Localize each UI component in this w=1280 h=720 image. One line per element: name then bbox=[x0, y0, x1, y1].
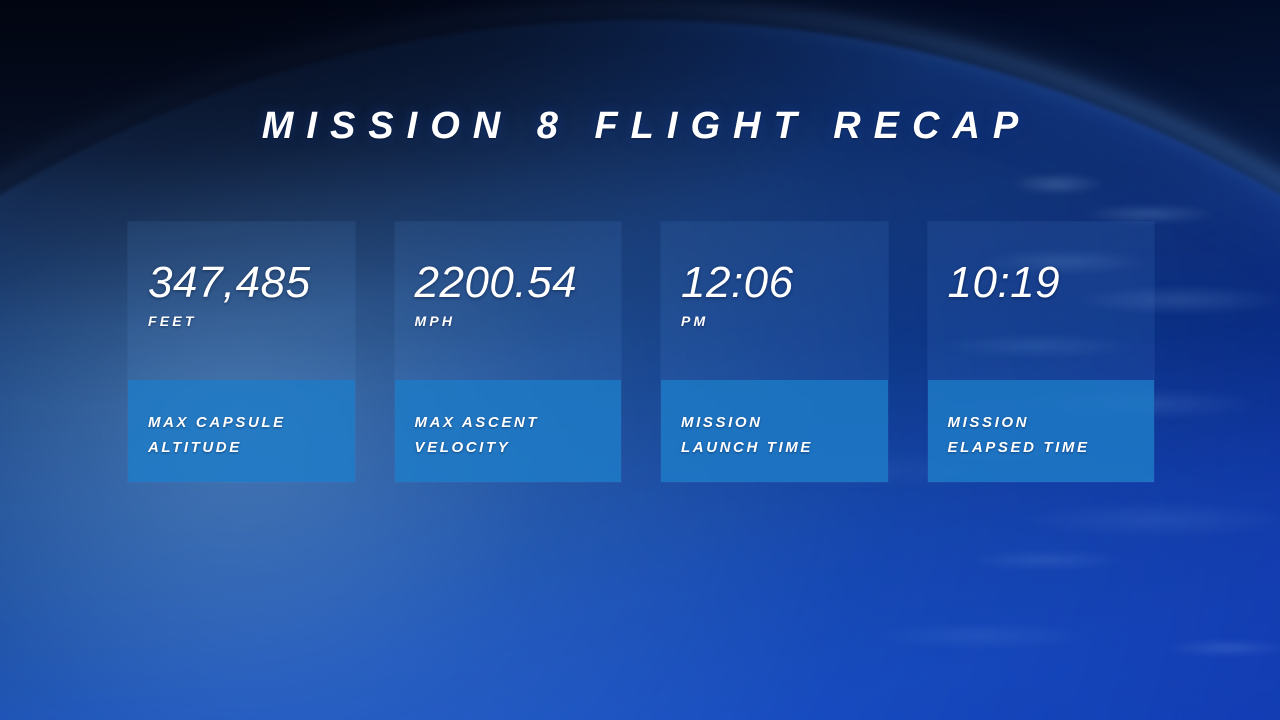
stat-value: 347,485 bbox=[148, 260, 355, 306]
stat-card-value-panel: 12:06 PM bbox=[661, 222, 888, 380]
stat-unit: PM bbox=[681, 313, 888, 329]
stat-card-label-panel: MAX ASCENT VELOCITY bbox=[395, 380, 622, 482]
stat-label-line: MISSION bbox=[948, 410, 1137, 435]
stat-value: 12:06 bbox=[681, 260, 888, 306]
stat-card-max-ascent-velocity: 2200.54 MPH MAX ASCENT VELOCITY bbox=[395, 222, 622, 482]
stat-label: MAX CAPSULE ALTITUDE bbox=[148, 410, 337, 460]
stat-card-value-panel: 347,485 FEET bbox=[128, 222, 355, 380]
flight-recap-graphic: MISSION 8 FLIGHT RECAP 347,485 FEET MAX … bbox=[0, 0, 1280, 720]
stat-card-label-panel: MISSION ELAPSED TIME bbox=[928, 380, 1155, 482]
stat-card-label-panel: MAX CAPSULE ALTITUDE bbox=[128, 380, 355, 482]
stat-card-value-panel: 2200.54 MPH bbox=[395, 222, 622, 380]
stat-unit: MPH bbox=[415, 313, 622, 329]
stat-label-line: ALTITUDE bbox=[148, 435, 337, 460]
stat-label: MISSION LAUNCH TIME bbox=[681, 410, 870, 460]
stat-label-line: MAX CAPSULE bbox=[148, 410, 337, 435]
stat-label-line: VELOCITY bbox=[415, 435, 604, 460]
stat-label-line: LAUNCH TIME bbox=[681, 435, 870, 460]
stat-card-max-capsule-altitude: 347,485 FEET MAX CAPSULE ALTITUDE bbox=[128, 222, 355, 482]
stat-card-mission-elapsed-time: 10:19 MISSION ELAPSED TIME bbox=[928, 222, 1155, 482]
stat-card-value-panel: 10:19 bbox=[928, 222, 1155, 380]
stat-card-row: 347,485 FEET MAX CAPSULE ALTITUDE 2200.5… bbox=[128, 222, 1154, 482]
stat-label-line: MAX ASCENT bbox=[415, 410, 604, 435]
stat-value: 2200.54 bbox=[415, 260, 622, 306]
stat-label: MAX ASCENT VELOCITY bbox=[415, 410, 604, 460]
stat-label: MISSION ELAPSED TIME bbox=[948, 410, 1137, 460]
page-title: MISSION 8 FLIGHT RECAP bbox=[0, 104, 1280, 148]
stat-card-label-panel: MISSION LAUNCH TIME bbox=[661, 380, 888, 482]
stat-value: 10:19 bbox=[948, 260, 1155, 306]
stat-card-mission-launch-time: 12:06 PM MISSION LAUNCH TIME bbox=[661, 222, 888, 482]
stat-label-line: ELAPSED TIME bbox=[948, 435, 1137, 460]
stat-unit: FEET bbox=[148, 313, 355, 329]
stat-label-line: MISSION bbox=[681, 410, 870, 435]
